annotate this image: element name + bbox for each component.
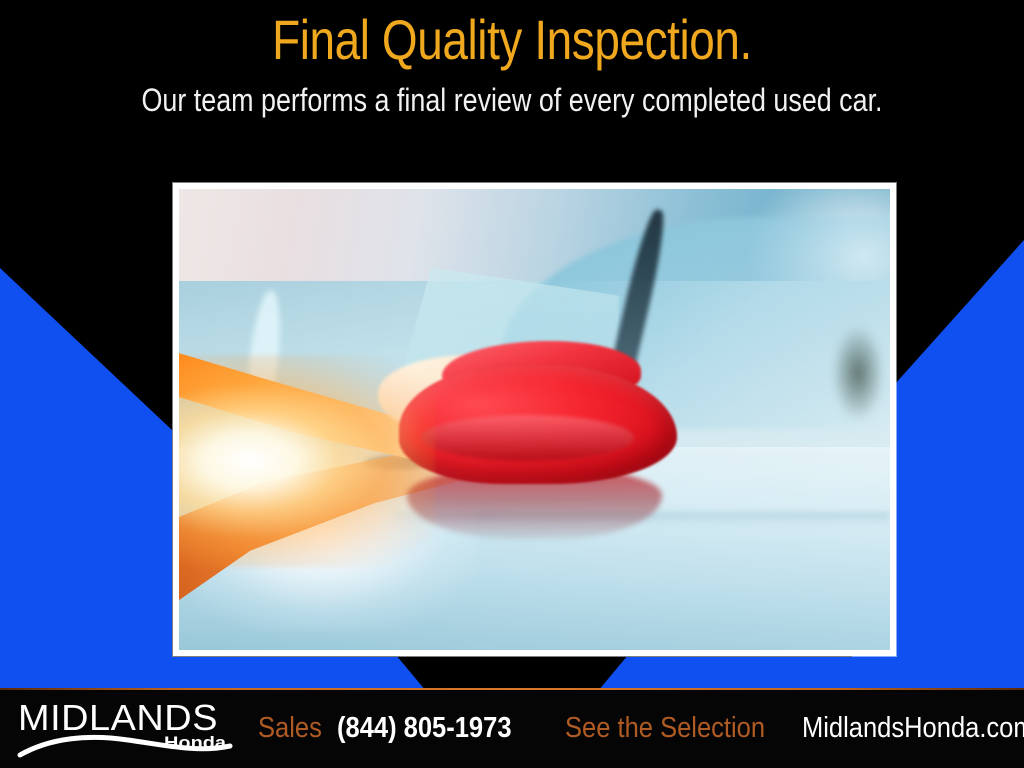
sales-label: Sales: [258, 712, 322, 745]
svg-text:MIDLANDS: MIDLANDS: [18, 697, 218, 738]
photo-background-foliage: [833, 327, 883, 419]
hero-image-frame: [173, 183, 896, 656]
footer-bar: MIDLANDS Honda Sales (844) 805-1973 See …: [0, 690, 1024, 768]
slide-canvas: Final Quality Inspection. Our team perfo…: [0, 0, 1024, 768]
page-subtitle: Our team performs a final review of ever…: [82, 84, 942, 118]
footer-contact-info: Sales (844) 805-1973 See the Selection M…: [258, 712, 1024, 752]
sales-phone[interactable]: (844) 805-1973: [337, 712, 512, 745]
hero-image: [179, 189, 890, 650]
photo-sun-flare: [179, 355, 435, 567]
dealer-logo[interactable]: MIDLANDS Honda: [16, 696, 246, 764]
photo-cloth-lower-fold: [421, 415, 634, 461]
page-title: Final Quality Inspection.: [92, 12, 932, 68]
selection-label: See the Selection: [565, 712, 765, 745]
website-link[interactable]: MidlandsHonda.com: [802, 712, 1024, 745]
midlands-honda-logo-icon: MIDLANDS Honda: [16, 696, 246, 764]
